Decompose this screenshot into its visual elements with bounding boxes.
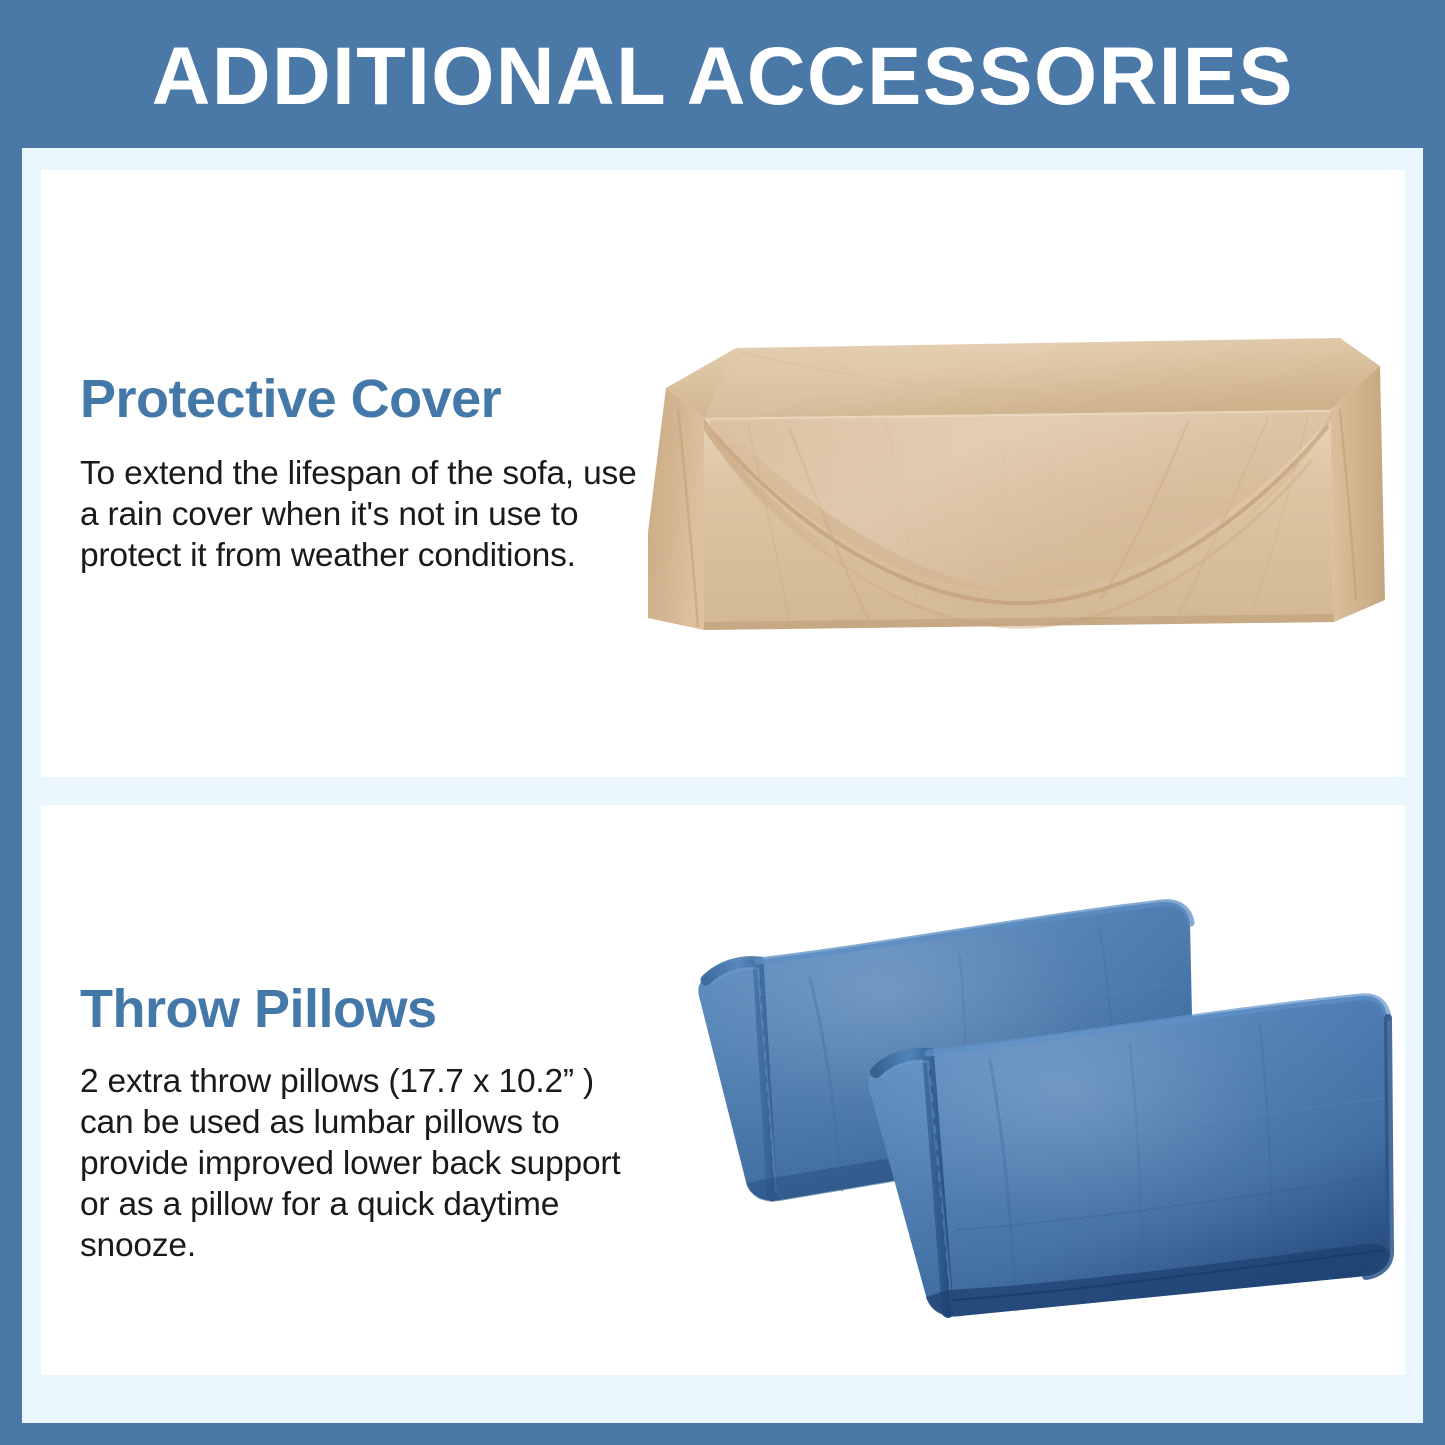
page-title: ADDITIONAL ACCESSORIES — [151, 36, 1293, 118]
infographic-page: ADDITIONAL ACCESSORIES Protective Cover … — [0, 0, 1445, 1445]
protective-cover-photo — [640, 300, 1400, 660]
throw-pillows-photo — [660, 860, 1400, 1335]
heading-protective-cover: Protective Cover — [80, 372, 670, 427]
header-banner: ADDITIONAL ACCESSORIES — [0, 0, 1445, 148]
text-block-throw-pillows: Throw Pillows 2 extra throw pillows (17.… — [80, 982, 670, 1266]
body-protective-cover: To extend the lifespan of the sofa, use … — [80, 453, 655, 576]
body-throw-pillows: 2 extra throw pillows (17.7 x 10.2” ) ca… — [80, 1061, 655, 1266]
text-block-protective-cover: Protective Cover To extend the lifespan … — [80, 372, 670, 576]
heading-throw-pillows: Throw Pillows — [80, 982, 670, 1037]
